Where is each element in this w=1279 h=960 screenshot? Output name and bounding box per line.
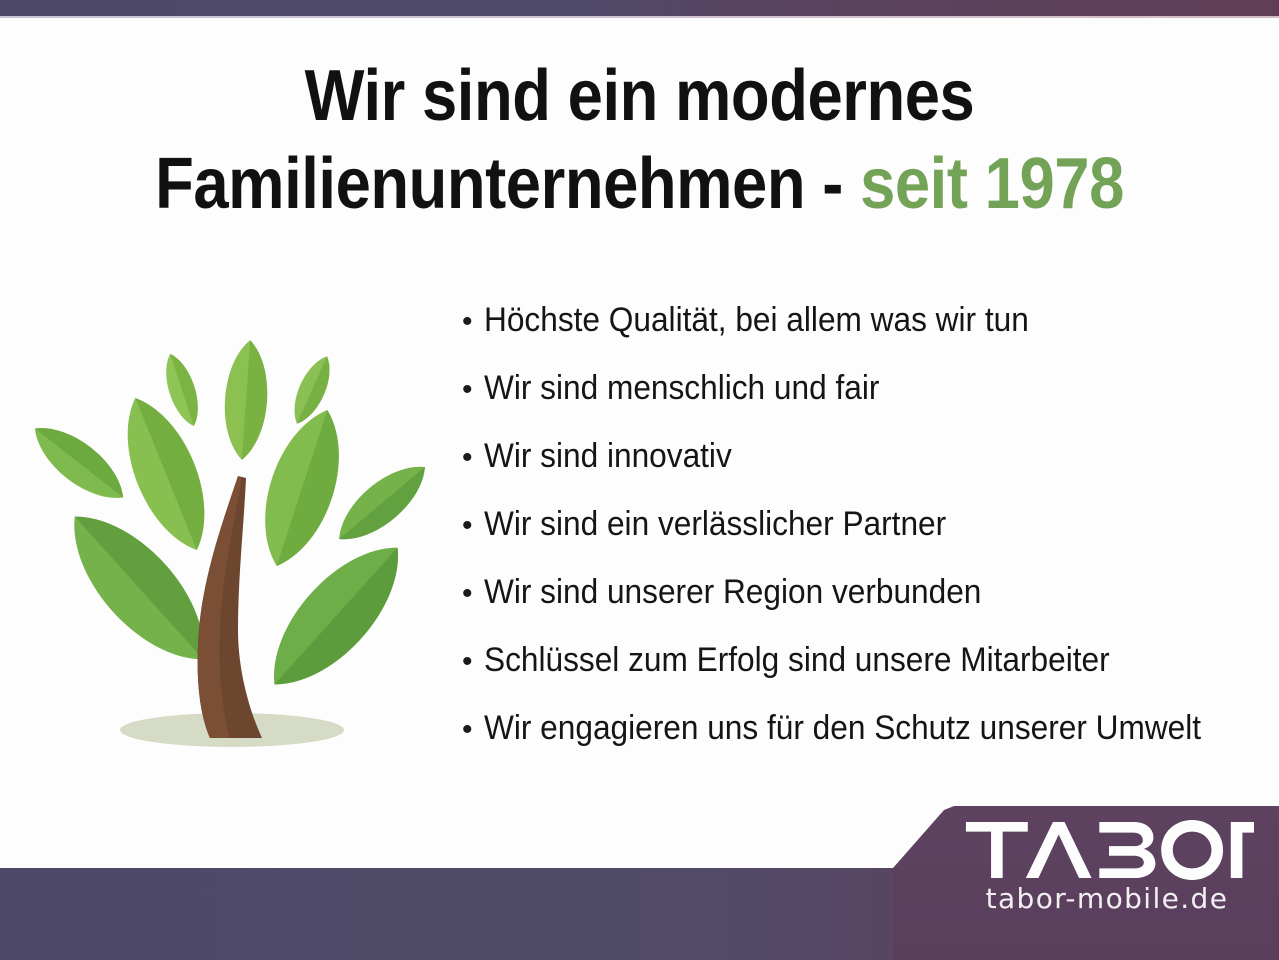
top-accent-bar — [0, 0, 1279, 16]
list-item: • Höchste Qualität, bei allem was wir tu… — [456, 300, 1266, 368]
headline-line-2-prefix: Familienunternehmen - — [155, 144, 860, 224]
bullet-marker-icon: • — [456, 443, 484, 473]
list-item-label: Wir engagieren uns für den Schutz unsere… — [484, 708, 1201, 748]
bullet-marker-icon: • — [456, 307, 484, 337]
list-item: • Wir engagieren uns für den Schutz unse… — [456, 708, 1266, 776]
brand-website-label: tabor-mobile.de — [964, 882, 1250, 916]
list-item-label: Schlüssel zum Erfolg sind unsere Mitarbe… — [484, 640, 1110, 680]
list-item-label: Wir sind menschlich und fair — [484, 368, 879, 408]
bullet-marker-icon: • — [456, 647, 484, 677]
bullet-marker-icon: • — [456, 375, 484, 405]
list-item-label: Höchste Qualität, bei allem was wir tun — [484, 300, 1029, 340]
headline-line-1: Wir sind ein modernes — [77, 52, 1203, 140]
list-item: • Wir sind ein verlässlicher Partner — [456, 504, 1266, 572]
top-accent-bar-hairline — [0, 16, 1279, 18]
leaf-upper-right — [247, 400, 358, 575]
brand-logo-panel[interactable]: tabor-mobile.de — [880, 800, 1279, 960]
slide-canvas: Wir sind ein modernes Familienunternehme… — [0, 0, 1279, 960]
leaf-top-left-small — [158, 350, 206, 430]
list-item-label: Wir sind ein verlässlicher Partner — [484, 504, 946, 544]
bullet-list: • Höchste Qualität, bei allem was wir tu… — [456, 300, 1266, 776]
list-item-label: Wir sind innovativ — [484, 436, 732, 476]
leaf-right-mid — [327, 452, 438, 554]
tree-illustration — [24, 328, 444, 764]
logo-text-block: tabor-mobile.de — [964, 820, 1264, 916]
bullet-marker-icon: • — [456, 715, 484, 745]
list-item: • Schlüssel zum Erfolg sind unsere Mitar… — [456, 640, 1266, 708]
leaf-top-center — [221, 339, 271, 462]
list-item: • Wir sind unserer Region verbunden — [456, 572, 1266, 640]
bullet-marker-icon: • — [456, 579, 484, 609]
headline-accent-year: seit 1978 — [860, 144, 1124, 224]
bullet-marker-icon: • — [456, 511, 484, 541]
headline-line-2: Familienunternehmen - seit 1978 — [77, 140, 1203, 228]
list-item-label: Wir sind unserer Region verbunden — [484, 572, 981, 612]
brand-wordmark — [964, 820, 1264, 880]
list-item: • Wir sind innovativ — [456, 436, 1266, 504]
page-title: Wir sind ein modernes Familienunternehme… — [77, 52, 1203, 228]
list-item: • Wir sind menschlich und fair — [456, 368, 1266, 436]
leaf-left-mid — [24, 413, 135, 513]
